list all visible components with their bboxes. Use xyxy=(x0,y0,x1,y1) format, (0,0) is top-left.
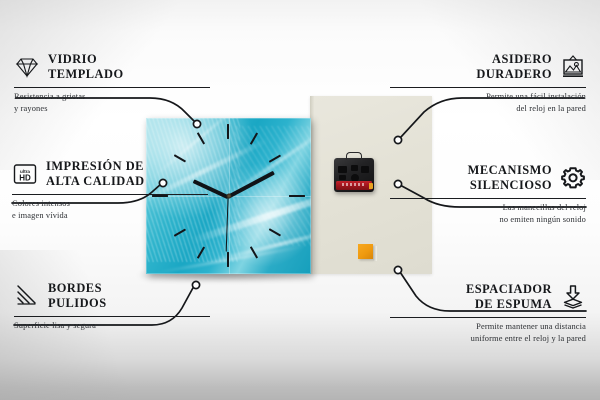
callout-title-line1: ESPACIADOR xyxy=(466,282,552,297)
callout-subtitle-line1: Permite mantener una distancia xyxy=(390,321,586,333)
callout-divider xyxy=(14,316,210,317)
callout-subtitle: Superficie lisa y segura xyxy=(14,320,210,332)
callout-title: BORDES PULIDOS xyxy=(48,281,107,311)
callout-subtitle-line1: Resistencia a grietas xyxy=(14,91,210,103)
mechanism-port xyxy=(351,165,358,171)
callout-subtitle-line1: Permite una fácil instalación xyxy=(390,91,586,103)
callout-subtitle: Permite una fácil instalación del reloj … xyxy=(390,91,586,114)
callout-title-line1: VIDRIO xyxy=(48,52,124,67)
callout-title: ESPACIADOR DE ESPUMA xyxy=(466,282,552,312)
callout-title-line1: MECANISMO xyxy=(468,163,552,178)
callout-divider xyxy=(390,87,586,88)
callout-divider xyxy=(390,317,586,318)
callout-header: MECANISMO SILENCIOSO xyxy=(390,161,586,195)
callout-title: IMPRESIÓN DE ALTA CALIDAD xyxy=(46,159,145,189)
callout-subtitle: Las manecillas del reloj no emiten ningú… xyxy=(390,202,586,225)
mechanism-port xyxy=(361,166,369,173)
ultra-hd-icon: ultra HD xyxy=(12,161,38,187)
feature-callout-bordes-pulidos: BORDES PULIDOS Superficie lisa y segura xyxy=(14,279,210,332)
feature-callout-espaciador-de-espuma: ESPACIADOR DE ESPUMA Permite mantener un… xyxy=(390,280,586,345)
callout-title: VIDRIO TEMPLADO xyxy=(48,52,124,82)
callout-header: VIDRIO TEMPLADO xyxy=(14,50,210,84)
feature-callout-asidero-duradero: ASIDERO DURADERO Permite una fácil insta… xyxy=(390,50,586,115)
callout-subtitle: Resistencia a grietas y rayones xyxy=(14,91,210,114)
feature-callout-vidrio-templado: VIDRIO TEMPLADO Resistencia a grietas y … xyxy=(14,50,210,115)
callout-title-line2: SILENCIOSO xyxy=(468,178,552,193)
mechanism-port xyxy=(339,175,346,180)
callout-title-line1: BORDES xyxy=(48,281,107,296)
callout-header: ESPACIADOR DE ESPUMA xyxy=(390,280,586,314)
polished-edge-icon xyxy=(14,283,40,309)
callout-header: BORDES PULIDOS xyxy=(14,279,210,313)
callout-divider xyxy=(12,194,208,195)
gear-icon xyxy=(560,165,586,191)
clock-hand-hub xyxy=(226,194,231,199)
callout-title: MECANISMO SILENCIOSO xyxy=(468,163,552,193)
callout-header: ASIDERO DURADERO xyxy=(390,50,586,84)
callout-title: ASIDERO DURADERO xyxy=(476,52,552,82)
hour-marker xyxy=(227,252,229,267)
feature-callout-mecanismo-silencioso: MECANISMO SILENCIOSO Las manecillas del … xyxy=(390,161,586,226)
hanging-frame-icon xyxy=(560,54,586,80)
svg-text:HD: HD xyxy=(19,174,31,183)
mechanism-hanger-loop xyxy=(346,152,362,160)
hour-marker xyxy=(289,195,305,197)
mechanism-battery xyxy=(336,181,372,190)
battery-positive-terminal xyxy=(369,183,373,189)
callout-title-line2: DE ESPUMA xyxy=(466,297,552,312)
callout-subtitle-line1: Las manecillas del reloj xyxy=(390,202,586,214)
diamond-icon xyxy=(14,54,40,80)
battery-label-stripe xyxy=(342,183,364,186)
callout-title-line1: ASIDERO xyxy=(476,52,552,67)
infographic-canvas: VIDRIO TEMPLADO Resistencia a grietas y … xyxy=(0,0,600,400)
hour-marker xyxy=(227,124,229,139)
foam-spacer-side xyxy=(373,246,377,261)
callout-subtitle-line2: e imagen vívida xyxy=(12,210,208,222)
foam-spacer xyxy=(358,244,373,259)
callout-subtitle: Colores intensos e imagen vívida xyxy=(12,198,208,221)
press-layers-icon xyxy=(560,284,586,310)
callout-subtitle: Permite mantener una distancia uniforme … xyxy=(390,321,586,344)
callout-title-line2: TEMPLADO xyxy=(48,67,124,82)
mechanism-port xyxy=(338,166,347,173)
callout-title-line2: ALTA CALIDAD xyxy=(46,174,145,189)
callout-divider xyxy=(14,87,210,88)
callout-title-line1: IMPRESIÓN DE xyxy=(46,159,145,174)
callout-subtitle-line1: Colores intensos xyxy=(12,198,208,210)
callout-subtitle-line1: Superficie lisa y segura xyxy=(14,320,210,332)
callout-subtitle-line2: no emiten ningún sonido xyxy=(390,214,586,226)
callout-title-line2: DURADERO xyxy=(476,67,552,82)
callout-divider xyxy=(390,198,586,199)
callout-subtitle-line2: y rayones xyxy=(14,103,210,115)
clock-mechanism xyxy=(334,158,374,192)
callout-header: ultra HD IMPRESIÓN DE ALTA CALIDAD xyxy=(12,157,208,191)
callout-subtitle-line2: uniforme entre el reloj y la pared xyxy=(390,333,586,345)
feature-callout-impresion-alta-calidad: ultra HD IMPRESIÓN DE ALTA CALIDAD Color… xyxy=(12,157,208,222)
callout-subtitle-line2: del reloj en la pared xyxy=(390,103,586,115)
callout-title-line2: PULIDOS xyxy=(48,296,107,311)
